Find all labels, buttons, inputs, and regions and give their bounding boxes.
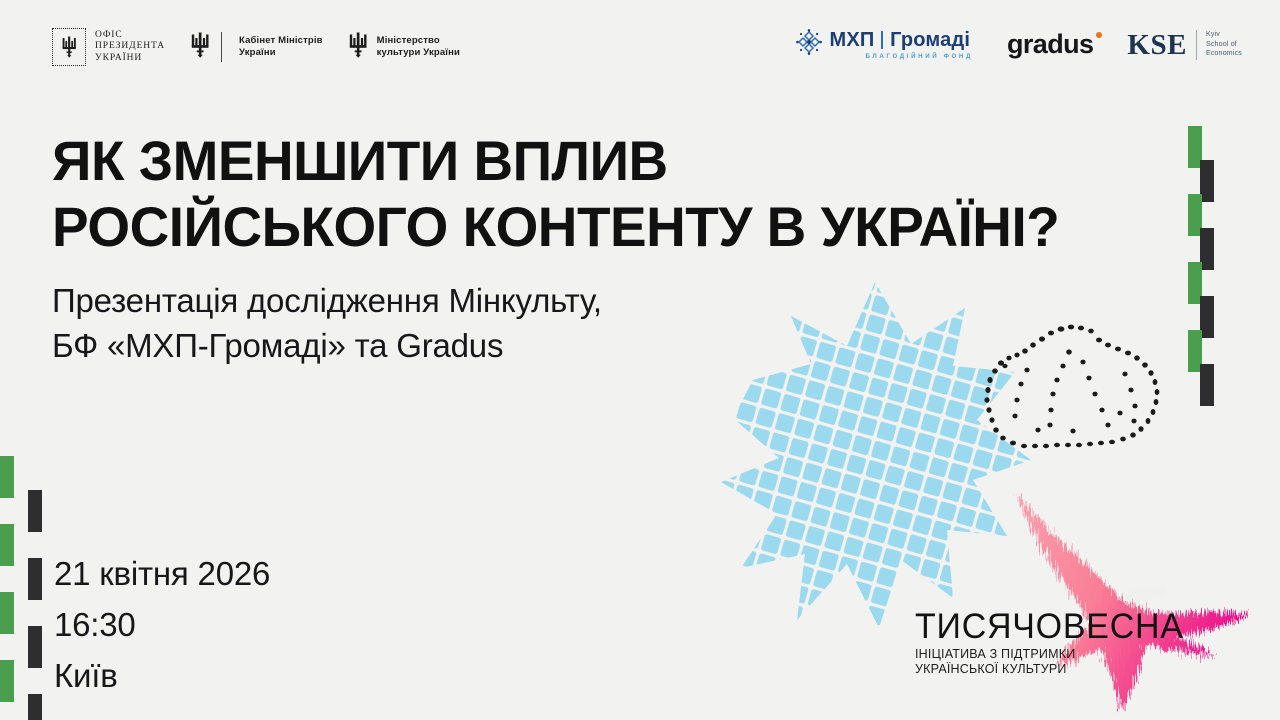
logo-label-office-of-the-president: ОФІС ПРЕЗИДЕНТА УКРАЇНИ: [95, 30, 165, 65]
subheadline-line-2: БФ «МХП-Громаді» та Gradus: [52, 323, 772, 368]
mhp-wordmark: МХП Громаді БЛАГОДІЙНИЙ ФОНД: [830, 30, 974, 60]
kse-wordmark: KSE: [1127, 30, 1187, 60]
logo-ministry-of-culture: Міністерство культури України: [349, 32, 460, 63]
slide-canvas: ОФІС ПРЕЗИДЕНТА УКРАЇНИ: [0, 0, 1280, 720]
subheadline-line-1: Презентація дослідження Мінкульту,: [52, 278, 772, 323]
mhp-word-secondary: Громаді: [890, 30, 970, 51]
logo-divider-rule: [221, 32, 222, 62]
event-date: 21 квітня 2026: [54, 548, 270, 599]
headline-line-2: РОСІЙСЬКОГО КОНТЕНТУ В УКРАЇНІ?: [52, 194, 1150, 260]
logo-gradus: gradus: [1007, 29, 1093, 60]
logo-label-cabinet-of-ministers: Кабінет Міністрів України: [239, 35, 323, 59]
mhp-divider: [881, 31, 883, 49]
ladder-decoration-left: [0, 456, 40, 720]
mhp-word-primary: МХП: [830, 30, 875, 51]
ladder-decoration-right: [1188, 126, 1228, 396]
trident-icon: [349, 32, 368, 63]
brand-tagline: ІНІЦІАТИВА З ПІДТРИМКИ УКРАЇНСЬКОЇ КУЛЬТ…: [915, 647, 1245, 677]
tysiachovesna-brand-lockup: ТИСЯЧОВЕСНА ІНІЦІАТИВА З ПІДТРИМКИ УКРАЇ…: [915, 608, 1245, 677]
logo-mhp-hromadi: МХП Громаді БЛАГОДІЙНИЙ ФОНД: [795, 28, 974, 61]
kse-divider: [1196, 30, 1197, 60]
headline-block: ЯК ЗМЕНШИТИ ВПЛИВ РОСІЙСЬКОГО КОНТЕНТУ В…: [52, 128, 1172, 260]
gradus-wordmark: gradus: [1007, 29, 1093, 59]
logo-kse: KSE Kyiv School of Economics: [1127, 30, 1242, 60]
trident-framed-icon: [52, 28, 86, 66]
dotted-shell-decoration: [965, 318, 1180, 458]
trident-icon: [191, 32, 210, 63]
logo-office-of-the-president: ОФІС ПРЕЗИДЕНТА УКРАЇНИ: [52, 28, 165, 66]
pink-swallow-decoration: [975, 490, 1280, 720]
government-partner-logos: ОФІС ПРЕЗИДЕНТА УКРАЇНИ: [52, 28, 460, 66]
logo-label-ministry-of-culture: Міністерство культури України: [377, 35, 460, 59]
brand-wordmark: ТИСЯЧОВЕСНА: [915, 608, 1235, 646]
mhp-ornament-icon: [795, 28, 823, 61]
event-time: 16:30: [54, 599, 270, 650]
partner-logo-bar: ОФІС ПРЕЗИДЕНТА УКРАЇНИ: [0, 0, 1280, 100]
headline-line-1: ЯК ЗМЕНШИТИ ВПЛИВ: [52, 128, 1150, 194]
logo-cabinet-of-ministers: Кабінет Міністрів України: [191, 32, 323, 63]
event-city: Київ: [54, 650, 270, 701]
mhp-subtitle: БЛАГОДІЙНИЙ ФОНД: [866, 53, 974, 60]
event-details-block: 21 квітня 2026 16:30 Київ: [54, 548, 270, 701]
sponsor-logos: МХП Громаді БЛАГОДІЙНИЙ ФОНД gradus KSE …: [795, 28, 1243, 61]
kse-subtitle: Kyiv School of Economics: [1206, 30, 1242, 59]
subheadline-block: Презентація дослідження Мінкульту, БФ «М…: [52, 278, 772, 368]
orange-dot-icon: [1096, 32, 1102, 38]
